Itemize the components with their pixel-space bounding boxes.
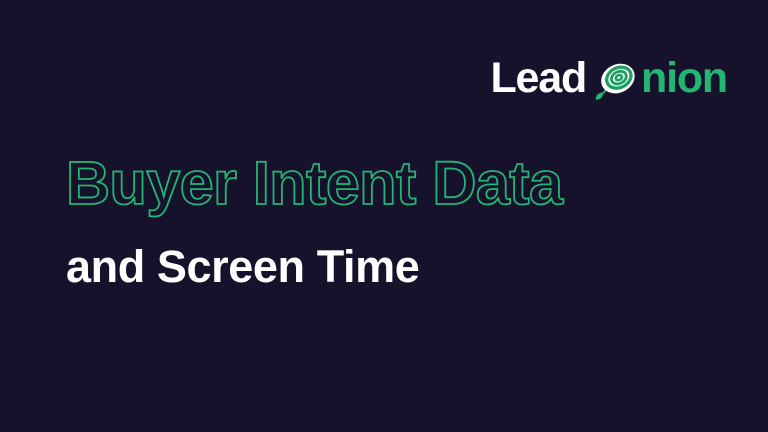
logo-word-nion: nion (641, 57, 727, 100)
logo-word-lead: Lead (490, 57, 586, 100)
title-slide: Lead nion Buyer Intent Data (0, 0, 768, 432)
title-text-block: Buyer Intent Data and Screen Time (66, 152, 706, 291)
page-subtitle: and Screen Time (66, 243, 706, 290)
lead-onion-logo[interactable]: Lead nion (490, 52, 727, 104)
page-title: Buyer Intent Data (66, 152, 706, 215)
onion-spiral-icon (593, 56, 640, 103)
